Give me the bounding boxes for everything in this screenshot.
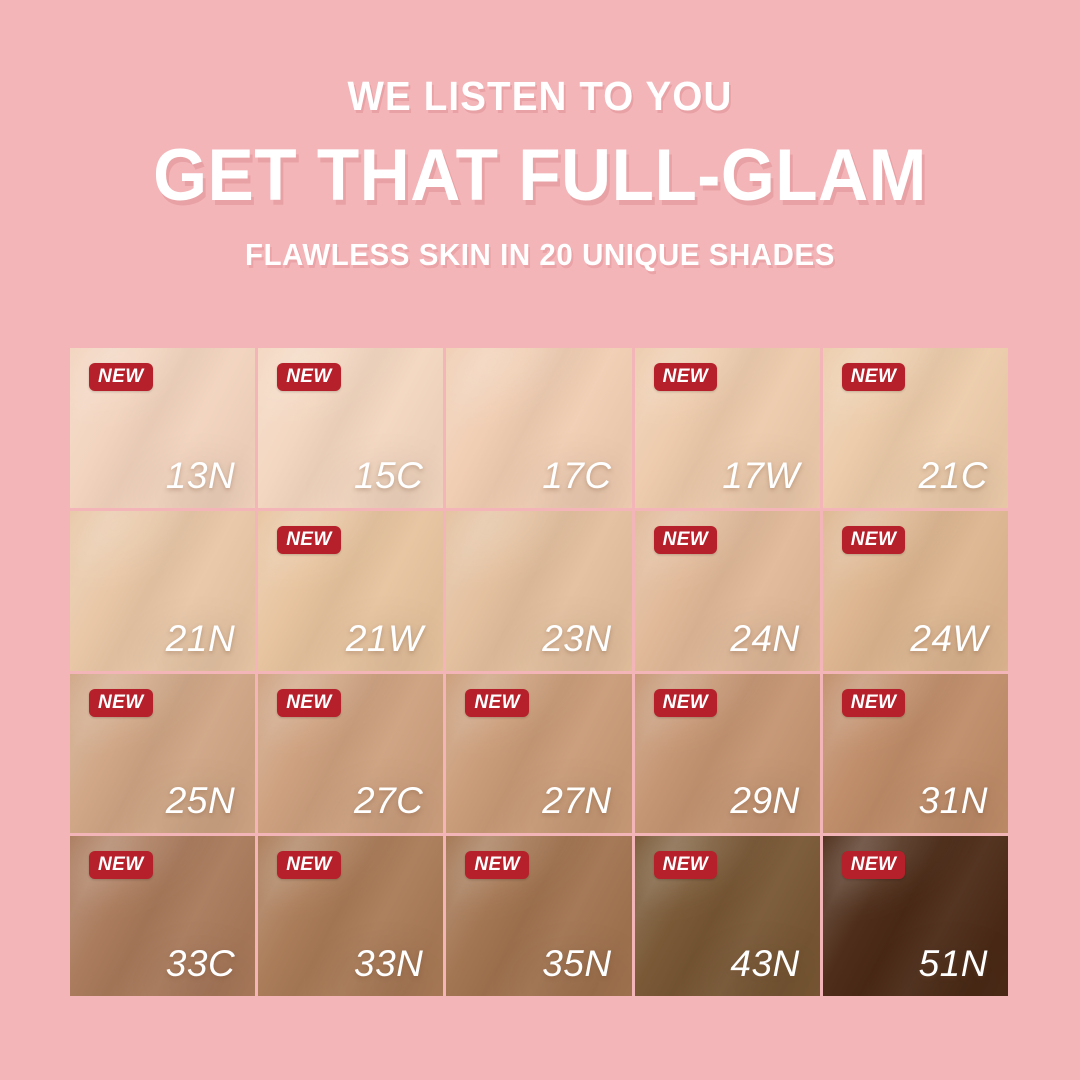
shade-code-label: 15C (354, 457, 423, 494)
shade-swatch[interactable]: NEW15C (258, 348, 443, 508)
shade-swatch[interactable]: NEW17C (446, 348, 631, 508)
shade-swatch[interactable]: NEW13N (70, 348, 255, 508)
headline-main: GET THAT FULL-GLAM (27, 139, 1053, 213)
shade-swatch[interactable]: NEW33N (258, 836, 443, 996)
shade-code-label: 21W (346, 620, 424, 657)
new-badge: NEW (277, 851, 341, 879)
shade-code-label: 21C (919, 457, 988, 494)
shade-code-label: 27N (542, 782, 611, 819)
shade-code-label: 24N (730, 620, 799, 657)
shade-code-label: 17W (722, 457, 800, 494)
shade-swatch[interactable]: NEW23N (446, 511, 631, 671)
new-badge: NEW (654, 851, 718, 879)
swatch-highlight-smear (823, 674, 988, 769)
shade-swatch[interactable]: NEW21C (823, 348, 1008, 508)
swatch-highlight-smear (446, 348, 611, 443)
shade-swatch[interactable]: NEW43N (635, 836, 820, 996)
shade-code-label: 13N (166, 457, 235, 494)
new-badge: NEW (277, 689, 341, 717)
headline-subtitle: FLAWLESS SKIN IN 20 UNIQUE SHADES (27, 239, 1053, 270)
new-badge: NEW (842, 851, 906, 879)
new-badge: NEW (465, 851, 529, 879)
new-badge: NEW (654, 363, 718, 391)
shade-swatch[interactable]: NEW51N (823, 836, 1008, 996)
shade-swatch[interactable]: NEW24N (635, 511, 820, 671)
shade-swatch[interactable]: NEW25N (70, 674, 255, 834)
shade-swatch-grid: NEW13NNEW15CNEW17CNEW17WNEW21CNEW21NNEW2… (70, 348, 1008, 996)
new-badge: NEW (654, 689, 718, 717)
shade-code-label: 25N (166, 782, 235, 819)
swatch-highlight-smear (70, 511, 235, 606)
shade-swatch[interactable]: NEW27C (258, 674, 443, 834)
shade-swatch[interactable]: NEW33C (70, 836, 255, 996)
new-badge: NEW (842, 363, 906, 391)
swatch-highlight-smear (823, 511, 988, 606)
headline-kicker: WE LISTEN TO YOU (32, 76, 1047, 117)
swatch-highlight-smear (635, 511, 800, 606)
new-badge: NEW (842, 526, 906, 554)
shade-swatch[interactable]: NEW27N (446, 674, 631, 834)
shade-code-label: 31N (919, 782, 988, 819)
new-badge: NEW (277, 363, 341, 391)
shade-range-poster: WE LISTEN TO YOU GET THAT FULL-GLAM FLAW… (0, 0, 1080, 1080)
shade-code-label: 29N (730, 782, 799, 819)
headline-block: WE LISTEN TO YOU GET THAT FULL-GLAM FLAW… (0, 76, 1080, 270)
new-badge: NEW (842, 689, 906, 717)
shade-code-label: 23N (542, 620, 611, 657)
shade-code-label: 33C (166, 945, 235, 982)
new-badge: NEW (465, 689, 529, 717)
swatch-highlight-smear (258, 511, 423, 606)
shade-code-label: 27C (354, 782, 423, 819)
swatch-highlight-smear (70, 674, 235, 769)
shade-swatch[interactable]: NEW31N (823, 674, 1008, 834)
swatch-highlight-smear (635, 674, 800, 769)
shade-code-label: 35N (542, 945, 611, 982)
shade-code-label: 24W (910, 620, 988, 657)
shade-swatch[interactable]: NEW35N (446, 836, 631, 996)
new-badge: NEW (89, 363, 153, 391)
shade-swatch[interactable]: NEW17W (635, 348, 820, 508)
new-badge: NEW (654, 526, 718, 554)
new-badge: NEW (89, 689, 153, 717)
shade-code-label: 17C (542, 457, 611, 494)
shade-swatch[interactable]: NEW21W (258, 511, 443, 671)
shade-code-label: 21N (166, 620, 235, 657)
swatch-highlight-smear (446, 511, 611, 606)
shade-swatch[interactable]: NEW29N (635, 674, 820, 834)
new-badge: NEW (277, 526, 341, 554)
swatch-highlight-smear (258, 674, 423, 769)
shade-code-label: 33N (354, 945, 423, 982)
shade-code-label: 51N (919, 945, 988, 982)
swatch-highlight-smear (446, 674, 611, 769)
shade-swatch[interactable]: NEW24W (823, 511, 1008, 671)
shade-code-label: 43N (730, 945, 799, 982)
shade-swatch[interactable]: NEW21N (70, 511, 255, 671)
new-badge: NEW (89, 851, 153, 879)
